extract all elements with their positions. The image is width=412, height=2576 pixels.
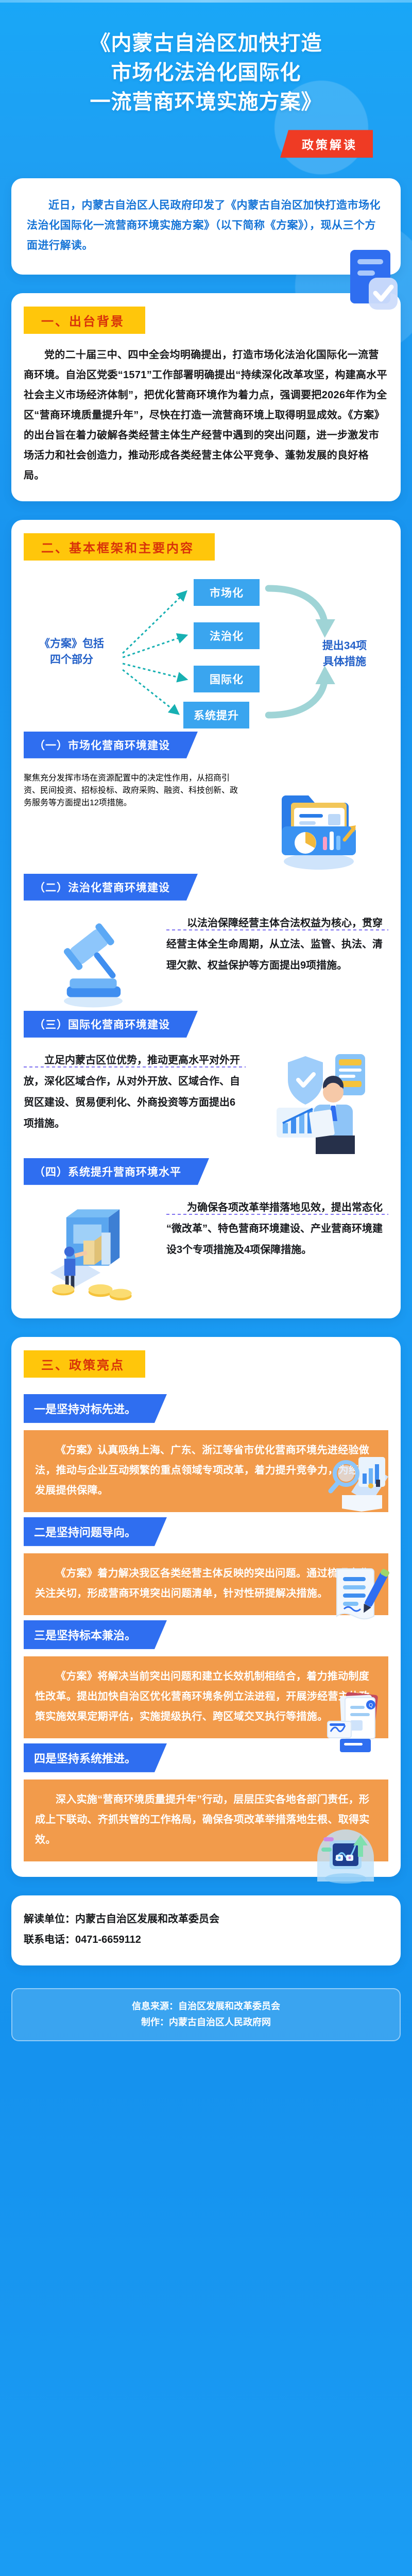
folder-chart-icon [250, 771, 388, 874]
highlight-3: 三是坚持标本兼治。 《方案》将解决当前突出问题和建立长效机制相结合，着力推动制度… [24, 1615, 388, 1738]
subsection-3-title: （三）国际化营商环境建设 [24, 1011, 198, 1038]
subsection-4-title: （四）系统提升营商环境水平 [24, 1158, 209, 1185]
subsection-2-block: 以法治保障经营主体合法权益为核心，贯穿经营主体全生命周期，从立法、监管、执法、清… [24, 913, 388, 1011]
section-2-heading: 二、基本框架和主要内容 [24, 533, 215, 561]
highlight-2: 二是坚持问题导向。 《方案》着力解决我区各类经营主体反映的突出问题。通过梳理企业… [24, 1512, 388, 1615]
diagram-left-line-2: 四个部分 [28, 652, 115, 668]
section-1-body: 党的二十届三中、四中全会均明确提出，打造市场化法治化国际化一流营商环境。自治区党… [24, 345, 388, 486]
diagram-box-internationalization: 国际化 [194, 666, 260, 692]
subsection-1-text: 聚焦充分发挥市场在资源配置中的决定性作用，从招商引资、民间投资、招标投标、政府采… [24, 771, 246, 808]
framework-diagram: 《方案》包括 四个部分 市场化 法治化 国际化 系统提升 提出34项 具体措施 [24, 575, 388, 730]
contact-phone: 联系电话：0471-6659112 [24, 1929, 388, 1950]
businessman-rating-icon [250, 1050, 388, 1158]
banner-row: 政策解读 [15, 130, 397, 158]
section-3-heading: 三、政策亮点 [24, 1350, 145, 1378]
highlight-3-body: 《方案》将解决当前突出问题和建立长效机制相结合，着力推动制度性改革。提出加快自治… [24, 1656, 388, 1738]
footer-source: 信息来源：自治区发展和改革委员会 [23, 1998, 389, 2015]
section-1-card: 一、出台背景 党的二十届三中、四中全会均明确提出，打造市场化法治化国际化一流营商… [11, 293, 401, 501]
policy-interpretation-banner: 政策解读 [280, 130, 373, 158]
highlight-1: 一是坚持对标先进。 《方案》认真吸纳上海、广东、浙江等省市优化营商环境先进经验做… [24, 1389, 388, 1512]
diagram-right-line-2: 具体措施 [306, 654, 383, 670]
section-2-card: 二、基本框架和主要内容 《方案》包括 四个部分 [11, 520, 401, 1318]
diagram-box-marketization: 市场化 [194, 579, 260, 606]
page-header: 《内蒙古自治区加快打造 市场化法治化国际化 一流营商环境实施方案》 政策解读 [0, 0, 412, 158]
gavel-icon [24, 913, 162, 1011]
diagram-box-system-upgrade: 系统提升 [183, 702, 249, 728]
footer-producer: 制作：内蒙古自治区人民政府网 [23, 2014, 389, 2031]
title-line-2: 市场化法治化国际化 [15, 58, 397, 88]
subsection-2-title: （二）法治化营商环境建设 [24, 874, 198, 901]
title-line-3: 一流营商环境实施方案》 [15, 88, 397, 117]
diagram-left-label: 《方案》包括 四个部分 [28, 636, 115, 668]
intro-paragraph: 近日，内蒙古自治区人民政府印发了《内蒙古自治区加快打造市场化法治化国际化一流营商… [27, 196, 385, 256]
subsection-1-title: （一）市场化营商环境建设 [24, 732, 198, 758]
subsection-2-text: 以法治保障经营主体合法权益为核心，贯穿经营主体全生命周期，从立法、监管、执法、清… [166, 913, 388, 977]
intro-card: 近日，内蒙古自治区人民政府印发了《内蒙古自治区加快打造市场化法治化国际化一流营商… [11, 178, 401, 275]
contact-card: 解读单位：内蒙古自治区发展和改革委员会 联系电话：0471-6659112 [11, 1895, 401, 1965]
highlight-4: 四是坚持系统推进。 深入实施“营商环境质量提升年”行动，层层压实各地各部门责任，… [24, 1738, 388, 1861]
subsection-1-block: 聚焦充分发挥市场在资源配置中的决定性作用，从招商引资、民间投资、招标投标、政府采… [24, 771, 388, 874]
diagram-left-line-1: 《方案》包括 [28, 636, 115, 652]
highlight-4-tag: 四是坚持系统推进。 [24, 1743, 167, 1772]
page-title: 《内蒙古自治区加快打造 市场化法治化国际化 一流营商环境实施方案》 [15, 29, 397, 116]
highlight-1-body: 《方案》认真吸纳上海、广东、浙江等省市优化营商环境先进经验做法，推动与企业互动频… [24, 1430, 388, 1512]
growth-coins-icon [24, 1197, 162, 1303]
infographic-page: 《内蒙古自治区加快打造 市场化法治化国际化 一流营商环境实施方案》 政策解读 近… [0, 0, 412, 2576]
highlight-2-body: 《方案》着力解决我区各类经营主体反映的突出问题。通过梳理企业关注关切，形成营商环… [24, 1553, 388, 1615]
highlight-3-tag: 三是坚持标本兼治。 [24, 1620, 167, 1649]
diagram-right-line-1: 提出34项 [306, 638, 383, 654]
section-3-card: 三、政策亮点 一是坚持对标先进。 《方案》认真吸纳上海、广东、浙江等省市优化营商… [11, 1337, 401, 1877]
subsection-4-block: 为确保各项改革举措落地见效，提出常态化“微改革”、特色营商环境建设、产业营商环境… [24, 1197, 388, 1303]
subsection-3-block: 立足内蒙古区位优势，推动更高水平对外开放，深化区域合作，从对外开放、区域合作、自… [24, 1050, 388, 1158]
subsection-4-text: 为确保各项改革举措落地见效，提出常态化“微改革”、特色营商环境建设、产业营商环境… [166, 1197, 388, 1262]
highlight-1-tag: 一是坚持对标先进。 [24, 1394, 167, 1423]
diagram-right-label: 提出34项 具体措施 [306, 638, 383, 670]
subsection-3-text: 立足内蒙古区位优势，推动更高水平对外开放，深化区域合作，从对外开放、区域合作、自… [24, 1050, 246, 1136]
highlight-4-body: 深入实施“营商环境质量提升年”行动，层层压实各地各部门责任，形成上下联动、齐抓共… [24, 1780, 388, 1861]
title-line-1: 《内蒙古自治区加快打造 [15, 29, 397, 58]
section-1-heading: 一、出台背景 [24, 307, 145, 334]
highlight-2-tag: 二是坚持问题导向。 [24, 1517, 167, 1546]
footer: 信息来源：自治区发展和改革委员会 制作：内蒙古自治区人民政府网 [11, 1988, 401, 2041]
contact-unit: 解读单位：内蒙古自治区发展和改革委员会 [24, 1909, 388, 1929]
diagram-box-rule-of-law: 法治化 [194, 622, 260, 649]
